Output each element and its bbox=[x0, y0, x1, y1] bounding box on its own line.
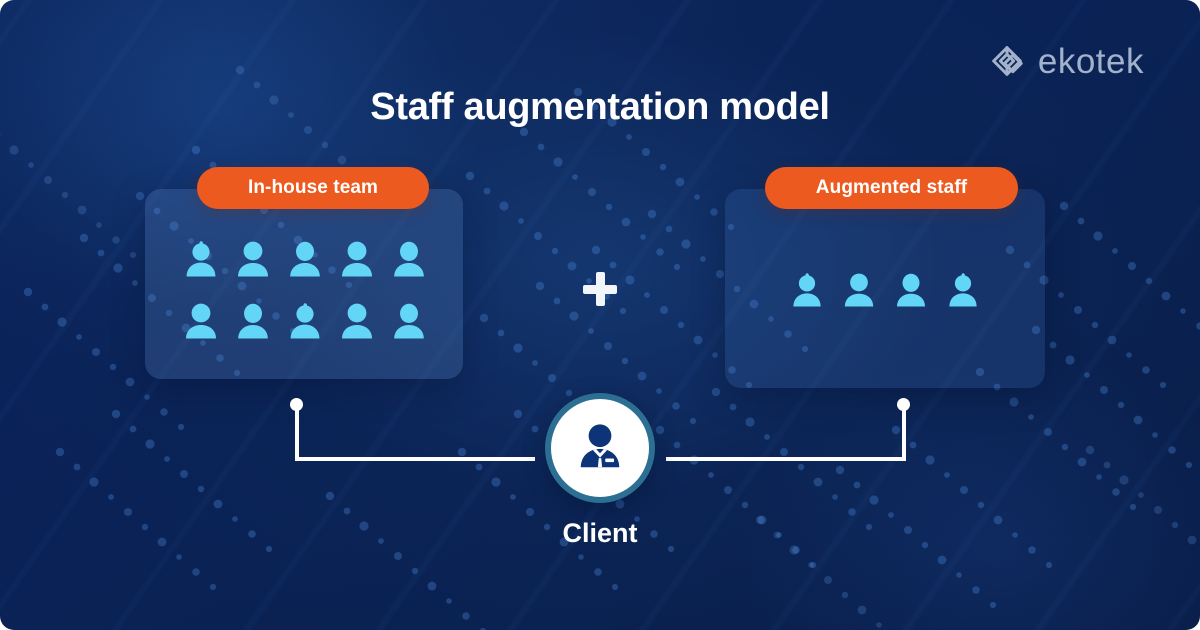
person-silhouette-icon bbox=[235, 239, 271, 279]
person-silhouette-icon bbox=[235, 301, 271, 341]
ekotek-interlock-logo-icon bbox=[987, 41, 1027, 81]
person-silhouette-icon bbox=[183, 239, 219, 279]
augmented-staff-icon-grid bbox=[785, 266, 985, 314]
in-house-team-icon-grid bbox=[175, 230, 435, 350]
person-silhouette-icon bbox=[391, 239, 427, 279]
connector-vertical-segment bbox=[902, 404, 906, 461]
person-silhouette-icon bbox=[339, 239, 375, 279]
person-silhouette-icon bbox=[287, 301, 323, 341]
infographic-canvas: ekotek Staff augmentation model In-house… bbox=[0, 0, 1200, 630]
connector-augmented-to-client bbox=[665, 398, 910, 468]
client-node bbox=[545, 393, 655, 503]
connector-in-house-to-client bbox=[290, 398, 535, 468]
client-label: Client bbox=[0, 518, 1200, 549]
person-silhouette-icon bbox=[183, 301, 219, 341]
connector-horizontal-segment bbox=[666, 457, 906, 461]
person-silhouette-icon bbox=[790, 271, 824, 309]
brand-logo: ekotek bbox=[987, 41, 1144, 81]
person-silhouette-icon bbox=[894, 271, 928, 309]
connector-horizontal-segment bbox=[295, 457, 535, 461]
person-silhouette-icon bbox=[842, 271, 876, 309]
businessman-avatar-icon bbox=[572, 420, 628, 476]
in-house-team-badge: In-house team bbox=[197, 167, 429, 209]
brand-name: ekotek bbox=[1038, 44, 1144, 79]
plus-icon bbox=[583, 272, 617, 306]
page-title: Staff augmentation model bbox=[0, 86, 1200, 129]
person-silhouette-icon bbox=[946, 271, 980, 309]
person-silhouette-icon bbox=[287, 239, 323, 279]
connector-vertical-segment bbox=[295, 404, 299, 461]
person-silhouette-icon bbox=[391, 301, 427, 341]
person-silhouette-icon bbox=[339, 301, 375, 341]
augmented-staff-badge: Augmented staff bbox=[765, 167, 1018, 209]
